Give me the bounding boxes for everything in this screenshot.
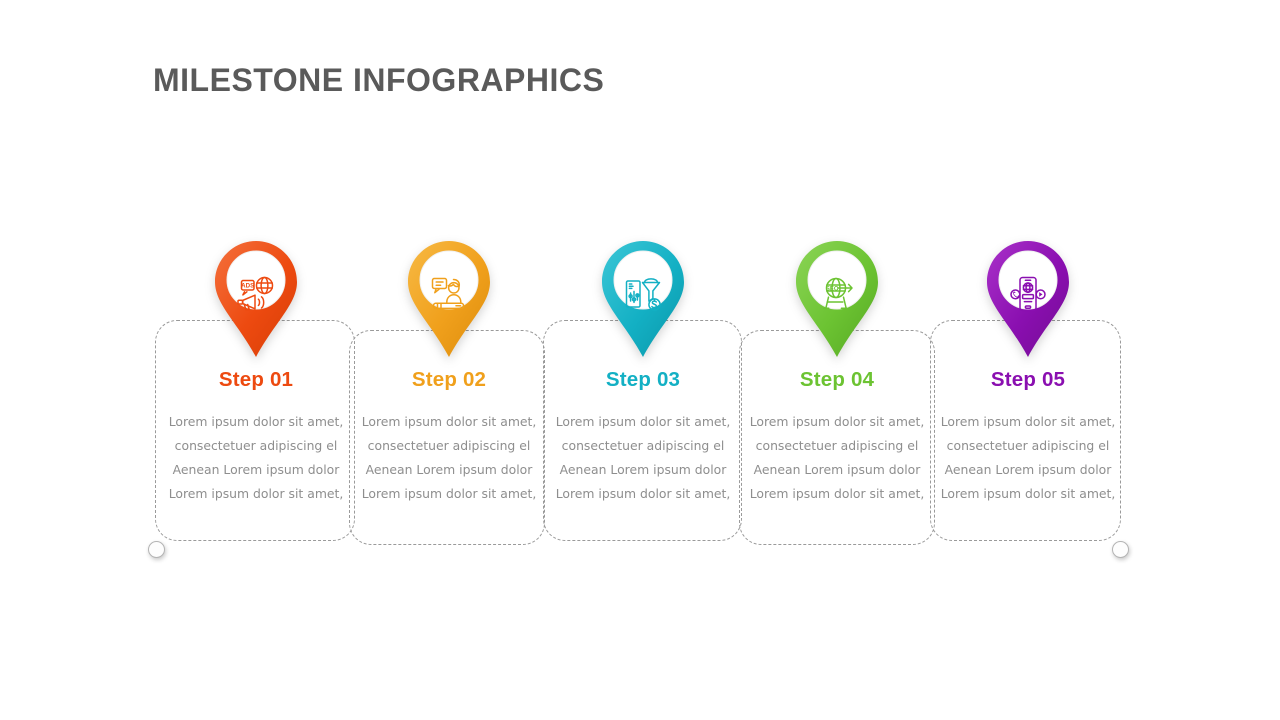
step-body-line: Lorem ipsum dolor sit amet,	[351, 410, 547, 434]
pin-marker-5[interactable]	[984, 238, 1072, 360]
step-item-2[interactable]: Step 02 Lorem ipsum dolor sit amet, cons…	[351, 238, 547, 506]
pin-shape-4	[793, 238, 881, 360]
pin-marker-3[interactable]	[599, 238, 687, 360]
step-title-5: Step 05	[930, 368, 1126, 392]
step-body-5: Lorem ipsum dolor sit amet, consectetuer…	[930, 410, 1126, 506]
step-body-line: consectetuer adipiscing el	[158, 434, 354, 458]
step-body-line: Aenean Lorem ipsum dolor	[739, 458, 935, 482]
pin-shape-3	[599, 238, 687, 360]
step-body-line: consectetuer adipiscing el	[545, 434, 741, 458]
step-body-3: Lorem ipsum dolor sit amet, consectetuer…	[545, 410, 741, 506]
slide-canvas: MILESTONE INFOGRAPHICS	[0, 0, 1280, 720]
step-title-1: Step 01	[158, 368, 354, 392]
steps-container: ADS Step 01 Lorem ipsum dolor sit amet, …	[0, 0, 1280, 720]
step-body-line: Lorem ipsum dolor sit amet,	[351, 482, 547, 506]
step-body-line: Lorem ipsum dolor sit amet,	[930, 410, 1126, 434]
step-body-1: Lorem ipsum dolor sit amet, consectetuer…	[158, 410, 354, 506]
pin-marker-2[interactable]	[405, 238, 493, 360]
step-body-line: Lorem ipsum dolor sit amet,	[158, 482, 354, 506]
step-body-line: consectetuer adipiscing el	[930, 434, 1126, 458]
step-body-line: Lorem ipsum dolor sit amet,	[158, 410, 354, 434]
step-body-line: consectetuer adipiscing el	[351, 434, 547, 458]
step-item-3[interactable]: Step 03 Lorem ipsum dolor sit amet, cons…	[545, 238, 741, 506]
step-item-4[interactable]: SEO Step 04 Lorem ipsum dolor sit amet, …	[739, 238, 935, 506]
step-body-line: Lorem ipsum dolor sit amet,	[739, 482, 935, 506]
step-body-2: Lorem ipsum dolor sit amet, consectetuer…	[351, 410, 547, 506]
step-body-line: Aenean Lorem ipsum dolor	[351, 458, 547, 482]
pin-shape-2	[405, 238, 493, 360]
pin-marker-4[interactable]: SEO	[793, 238, 881, 360]
step-body-line: Lorem ipsum dolor sit amet,	[545, 410, 741, 434]
pin-marker-1[interactable]: ADS	[212, 238, 300, 360]
step-title-4: Step 04	[739, 368, 935, 392]
step-body-4: Lorem ipsum dolor sit amet, consectetuer…	[739, 410, 935, 506]
step-item-1[interactable]: ADS Step 01 Lorem ipsum dolor sit amet, …	[158, 238, 354, 506]
step-body-line: Aenean Lorem ipsum dolor	[545, 458, 741, 482]
step-body-line: Aenean Lorem ipsum dolor	[930, 458, 1126, 482]
pin-shape-1	[212, 238, 300, 360]
step-body-line: consectetuer adipiscing el	[739, 434, 935, 458]
step-body-line: Lorem ipsum dolor sit amet,	[545, 482, 741, 506]
step-body-line: Lorem ipsum dolor sit amet,	[739, 410, 935, 434]
step-body-line: Aenean Lorem ipsum dolor	[158, 458, 354, 482]
pin-shape-5	[984, 238, 1072, 360]
step-body-line: Lorem ipsum dolor sit amet,	[930, 482, 1126, 506]
step-title-2: Step 02	[351, 368, 547, 392]
step-item-5[interactable]: Step 05 Lorem ipsum dolor sit amet, cons…	[930, 238, 1126, 506]
step-title-3: Step 03	[545, 368, 741, 392]
